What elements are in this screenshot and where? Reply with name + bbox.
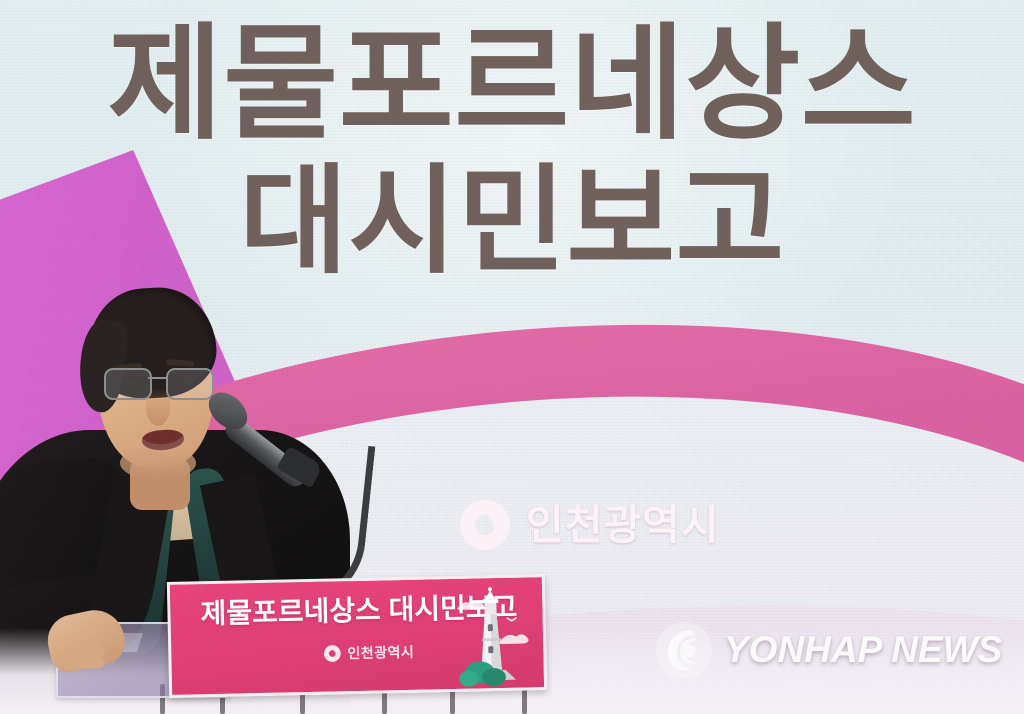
glasses-lens-left (104, 368, 152, 400)
microphone-icon (206, 396, 326, 486)
lectern-sign: 제물포르네상스 대시민보고 인천광역시 (167, 574, 547, 698)
yonhap-swirl-icon (652, 618, 716, 682)
backdrop-headline: 제물포르네상스 대시민보고 (0, 22, 1024, 281)
speaker-chin (120, 446, 196, 480)
incheon-swirl-icon (458, 498, 512, 552)
yonhap-watermark-label: YONHAP NEWS (724, 629, 1002, 671)
incheon-swirl-icon (323, 644, 341, 662)
backdrop-incheon-logo: 인천광역시 (458, 498, 720, 552)
lectern-sign-logo-label: 인천광역시 (347, 642, 414, 663)
lectern-sign-logo: 인천광역시 (323, 642, 414, 664)
headline-line-1: 제물포르네상스 (0, 22, 1024, 147)
lighthouse-icon (454, 583, 530, 691)
speaker-nose (146, 388, 170, 426)
backdrop-logo-label: 인천광역시 (526, 505, 720, 546)
press-photo: 제물포르네상스 대시민보고 인천광역시 (0, 0, 1024, 714)
glasses-bridge (148, 377, 166, 379)
yonhap-watermark: YONHAP NEWS (652, 618, 1002, 682)
finger (62, 656, 105, 670)
headline-line-2: 대시민보고 (0, 163, 1024, 281)
